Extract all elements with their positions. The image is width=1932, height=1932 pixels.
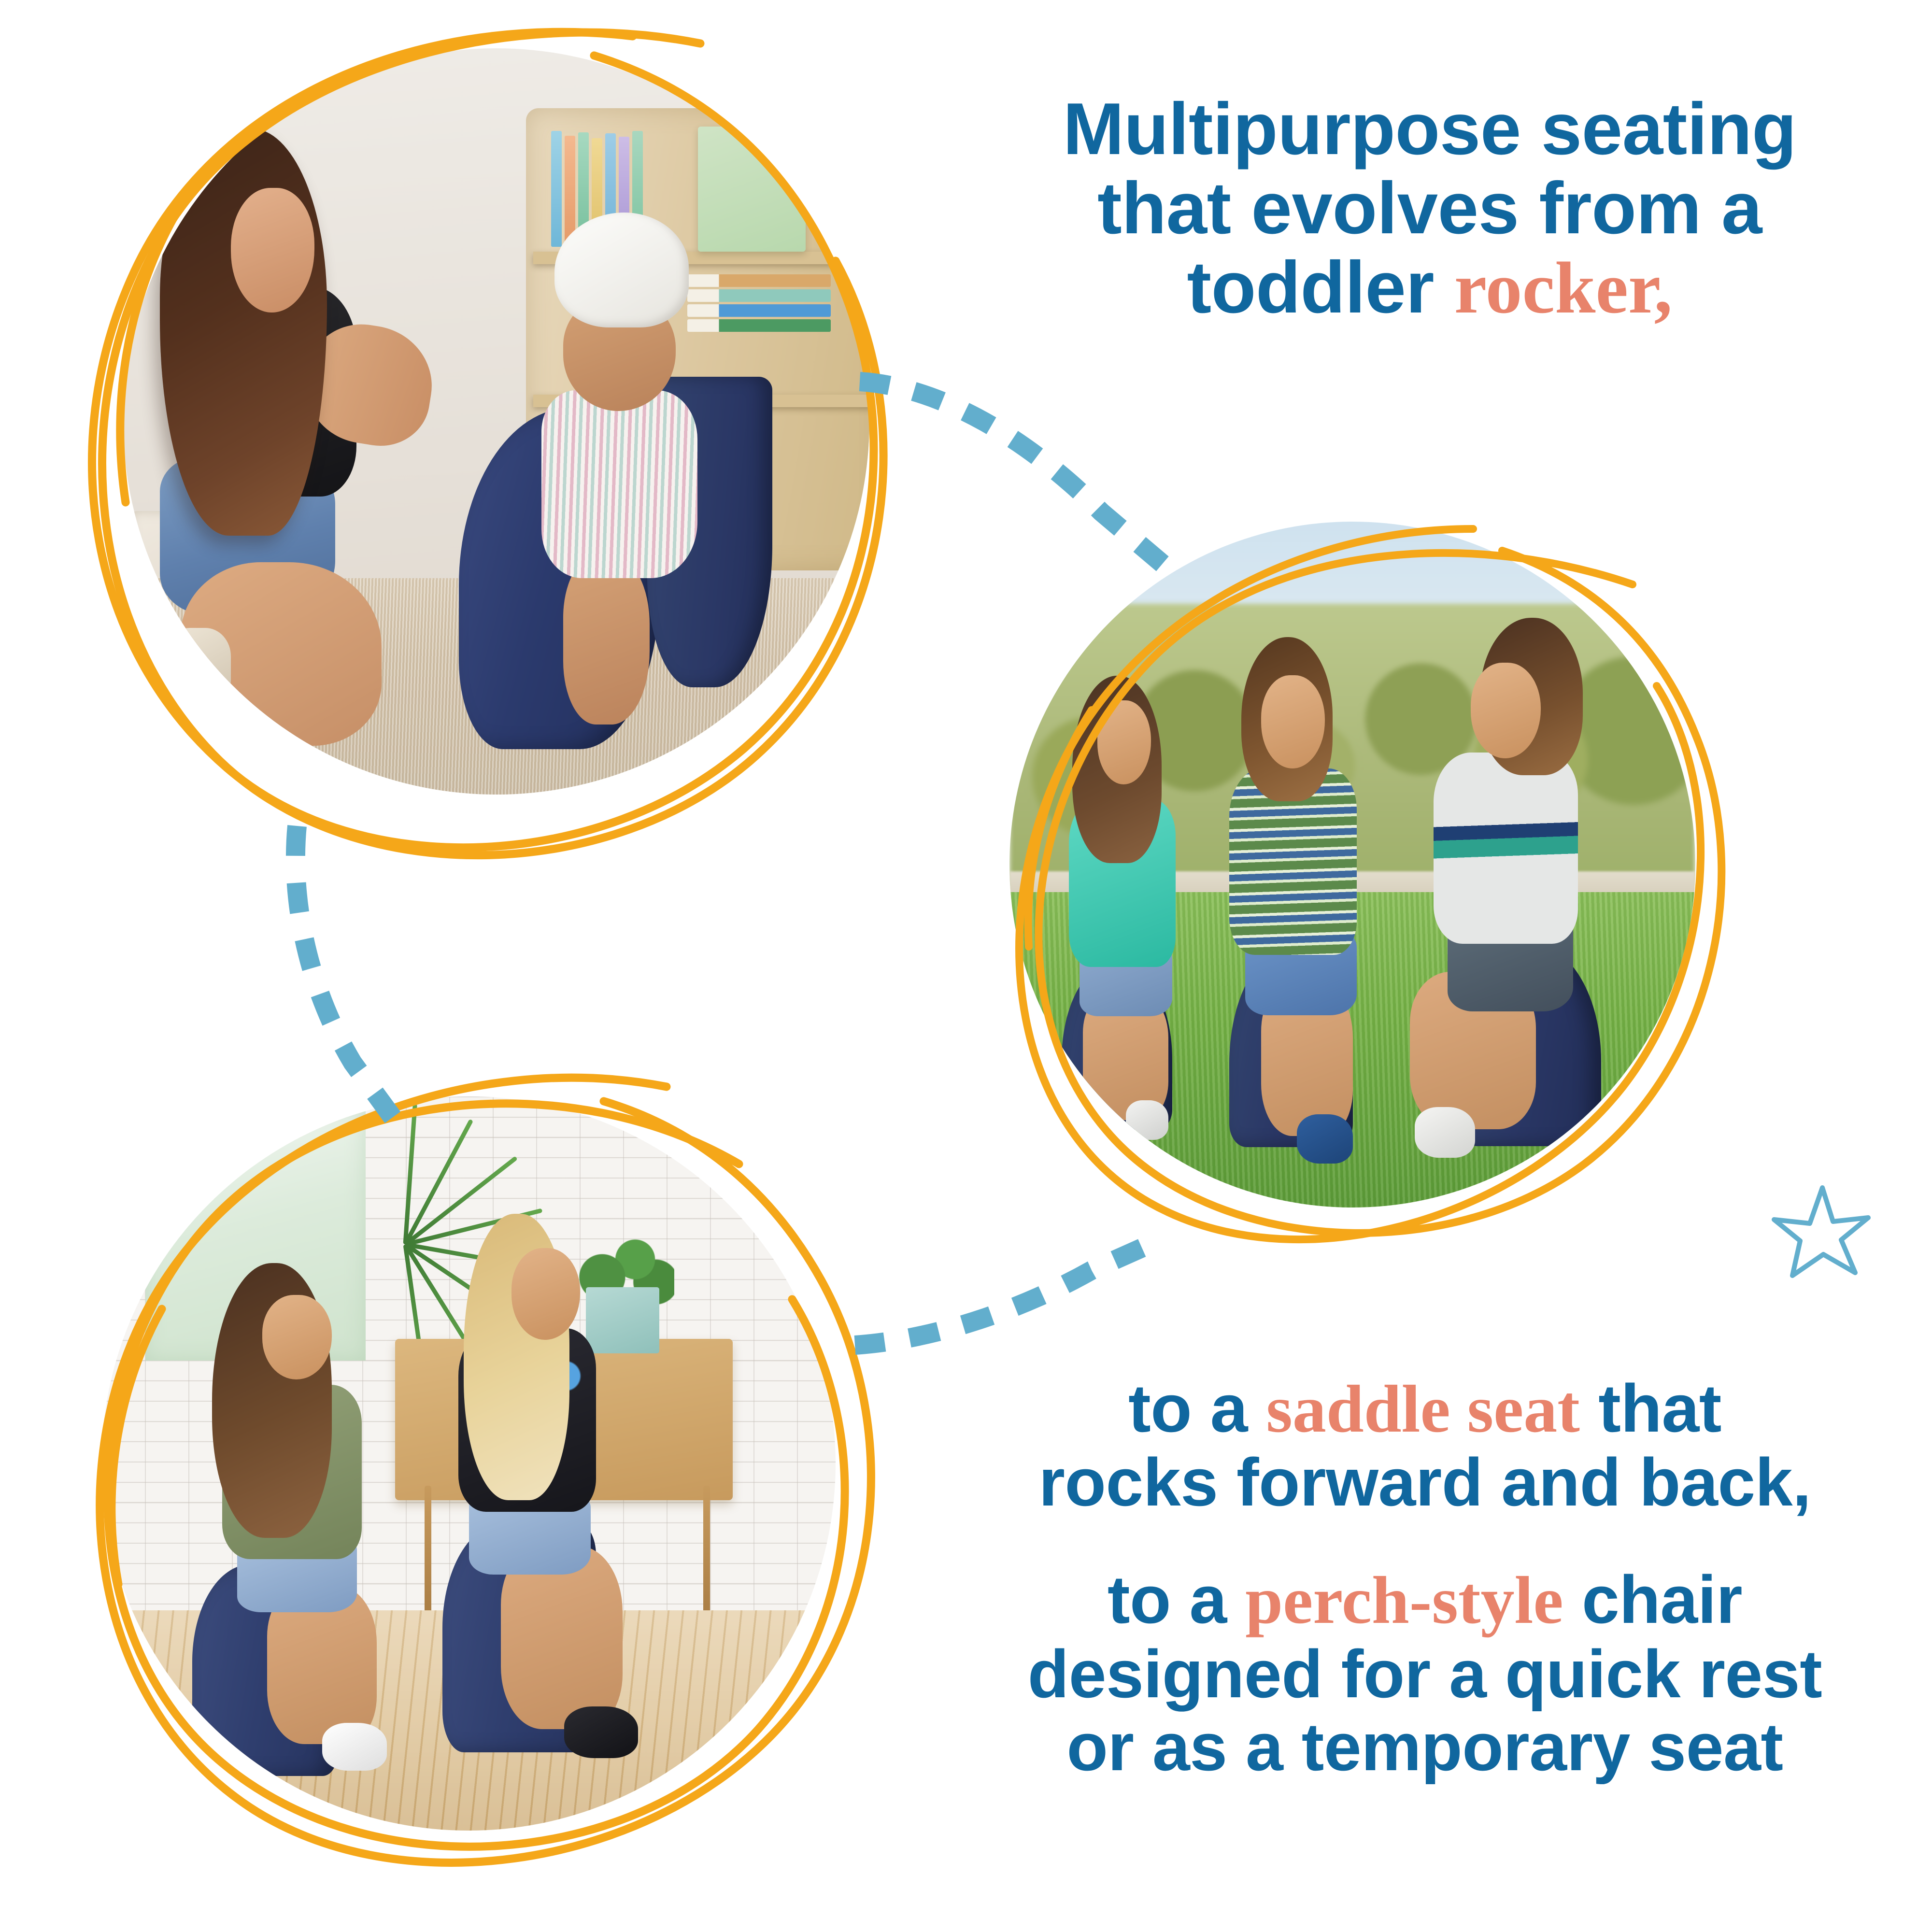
perch-line-2: designed for a quick rest <box>966 1637 1884 1710</box>
child-figure-middle <box>1202 631 1401 1180</box>
headline-line-2: that evolves from a <box>995 169 1864 248</box>
perch-seg-1: to a <box>1108 1562 1245 1637</box>
toddler-figure <box>511 213 727 735</box>
photo-perch-chair <box>101 1096 836 1831</box>
child-figure-right <box>1387 618 1620 1180</box>
perch-line-3: or as a temporary seat <box>966 1710 1884 1783</box>
child-figure-perch-left <box>182 1258 432 1786</box>
child-figure-left <box>1044 666 1222 1159</box>
saddle-line-2: rocks forward and back, <box>966 1446 1884 1519</box>
star-icon <box>1770 1181 1872 1282</box>
infographic-canvas: Multipurpose seating that evolves from a… <box>0 0 1932 1932</box>
perch-line-1: to a perch-style chair <box>966 1563 1884 1637</box>
dashed-connector-rocker-to-perch <box>270 821 444 1130</box>
body-copy: to a saddle seat that rocks forward and … <box>966 1372 1884 1783</box>
body-accent-perch-style: perch-style <box>1245 1563 1563 1638</box>
body-paragraph-saddle: to a saddle seat that rocks forward and … <box>966 1372 1884 1519</box>
body-accent-saddle-seat: saddle seat <box>1266 1372 1579 1447</box>
saddle-seg-2: that <box>1580 1370 1721 1446</box>
headline-line-3: toddler rocker, <box>995 248 1864 327</box>
adult-figure <box>130 115 548 772</box>
headline-line-1: Multipurpose seating <box>995 89 1864 169</box>
saddle-line-1: to a saddle seat that <box>966 1372 1884 1446</box>
headline: Multipurpose seating that evolves from a… <box>995 89 1864 327</box>
child-figure-perch-right <box>395 1214 659 1787</box>
photo-toddler-rocker <box>123 48 869 795</box>
headline-line-3-prefix: toddler <box>1187 246 1454 328</box>
saddle-seg-1: to a <box>1128 1370 1266 1446</box>
body-paragraph-perch: to a perch-style chair designed for a qu… <box>966 1563 1884 1783</box>
photo-saddle-seat <box>1009 522 1695 1207</box>
headline-accent-rocker: rocker, <box>1454 247 1673 328</box>
perch-seg-2: chair <box>1563 1562 1743 1637</box>
